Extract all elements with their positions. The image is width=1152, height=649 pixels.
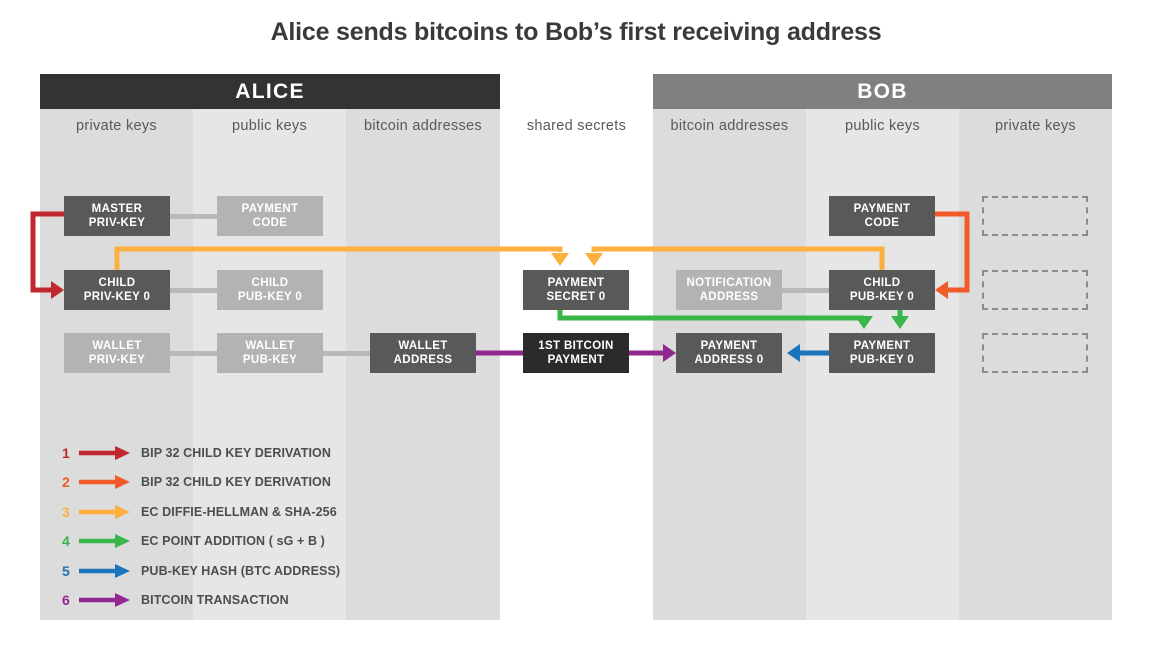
node-child-priv-key-0: CHILDPRIV-KEY 0 <box>64 270 170 310</box>
legend-label: PUB-KEY HASH (BTC ADDRESS) <box>141 564 340 578</box>
node-child-pub-key-0-alice: CHILDPUB-KEY 0 <box>217 270 323 310</box>
legend-arrow-icon <box>77 473 131 491</box>
node-label-line2: PUB-KEY 0 <box>850 353 914 367</box>
legend-label: BITCOIN TRANSACTION <box>141 593 289 607</box>
node-label-line1: CHILD <box>252 276 289 290</box>
node-label-line2: PAYMENT <box>548 353 605 367</box>
legend-item-4: 4EC POINT ADDITION ( sG + B ) <box>62 527 340 557</box>
node-label-line1: PAYMENT <box>854 202 911 216</box>
legend-label: EC POINT ADDITION ( sG + B ) <box>141 534 325 548</box>
legend: 1BIP 32 CHILD KEY DERIVATION2BIP 32 CHIL… <box>62 438 340 615</box>
legend-number: 6 <box>62 592 77 608</box>
column-caption-alice-public-keys: public keys <box>193 118 346 140</box>
diagram-canvas: Alice sends bitcoins to Bob’s first rece… <box>0 0 1152 649</box>
legend-arrow-icon <box>77 591 131 609</box>
node-wallet-priv-key: WALLETPRIV-KEY <box>64 333 170 373</box>
link-master-to-alice-payment-code <box>168 214 219 219</box>
node-label-line2: PUB-KEY <box>243 353 297 367</box>
party-header-label: BOB <box>857 80 908 104</box>
node-label-line2: PUB-KEY 0 <box>238 290 302 304</box>
legend-item-2: 2BIP 32 CHILD KEY DERIVATION <box>62 468 340 498</box>
legend-number: 3 <box>62 504 77 520</box>
node-label-line1: PAYMENT <box>701 339 758 353</box>
node-payment-secret-0: PAYMENTSECRET 0 <box>523 270 629 310</box>
node-label-line2: CODE <box>865 216 900 230</box>
link-wallet-priv-to-wallet-pub <box>168 351 219 356</box>
legend-item-6: 6BITCOIN TRANSACTION <box>62 586 340 616</box>
legend-arrow-icon <box>77 444 131 462</box>
party-header-alice: ALICE <box>40 74 500 109</box>
node-label-line2: ADDRESS 0 <box>695 353 764 367</box>
party-header-bob: BOB <box>653 74 1112 109</box>
node-label-line1: PAYMENT <box>548 276 605 290</box>
column-caption-bob-bitcoin-addresses: bitcoin addresses <box>653 118 806 140</box>
node-wallet-pub-key: WALLETPUB-KEY <box>217 333 323 373</box>
node-label-line1: WALLET <box>92 339 141 353</box>
legend-item-1: 1BIP 32 CHILD KEY DERIVATION <box>62 438 340 468</box>
legend-arrow-icon <box>77 532 131 550</box>
node-wallet-address: WALLETADDRESS <box>370 333 476 373</box>
legend-number: 5 <box>62 563 77 579</box>
legend-number: 2 <box>62 474 77 490</box>
party-header-label: ALICE <box>235 80 305 104</box>
node-label-line1: CHILD <box>99 276 136 290</box>
node-label-line2: SECRET 0 <box>546 290 605 304</box>
legend-number: 4 <box>62 533 77 549</box>
node-payment-address-0: PAYMENTADDRESS 0 <box>676 333 782 373</box>
node-label-line1: CHILD <box>864 276 901 290</box>
node-label-line2: PRIV-KEY <box>89 353 145 367</box>
node-label-line2: PRIV-KEY 0 <box>84 290 151 304</box>
node-label-line1: PAYMENT <box>854 339 911 353</box>
node-master-priv-key: MASTERPRIV-KEY <box>64 196 170 236</box>
node-label-line2: ADDRESS <box>700 290 759 304</box>
node-label-line2: PRIV-KEY <box>89 216 145 230</box>
column-caption-shared-secrets: shared secrets <box>500 118 653 140</box>
link-notification-to-child-pub-bob <box>780 288 831 293</box>
flow-3a-arrowhead <box>551 253 569 266</box>
node-notification-address: NOTIFICATIONADDRESS <box>676 270 782 310</box>
flow-3b-arrowhead <box>585 253 603 266</box>
node-payment-pub-key-0: PAYMENTPUB-KEY 0 <box>829 333 935 373</box>
node-label-line1: PAYMENT <box>242 202 299 216</box>
node-label-line2: PUB-KEY 0 <box>850 290 914 304</box>
bob-priv-placeholder-3 <box>982 333 1088 373</box>
node-child-pub-key-0-bob: CHILDPUB-KEY 0 <box>829 270 935 310</box>
column-caption-alice-private-keys: private keys <box>40 118 193 140</box>
column-caption-bob-public-keys: public keys <box>806 118 959 140</box>
node-first-bitcoin-payment: 1ST BITCOINPAYMENT <box>523 333 629 373</box>
legend-label: EC DIFFIE-HELLMAN & SHA-256 <box>141 505 337 519</box>
page-title: Alice sends bitcoins to Bob’s first rece… <box>0 18 1152 47</box>
legend-label: BIP 32 CHILD KEY DERIVATION <box>141 475 331 489</box>
node-label-line1: 1ST BITCOIN <box>538 339 613 353</box>
legend-item-5: 5PUB-KEY HASH (BTC ADDRESS) <box>62 556 340 586</box>
legend-label: BIP 32 CHILD KEY DERIVATION <box>141 446 331 460</box>
legend-arrow-icon <box>77 562 131 580</box>
node-label-line1: NOTIFICATION <box>686 276 771 290</box>
legend-number: 1 <box>62 445 77 461</box>
link-wallet-pub-to-wallet-address <box>321 351 372 356</box>
column-caption-bob-private-keys: private keys <box>959 118 1112 140</box>
column-caption-alice-bitcoin-addresses: bitcoin addresses <box>346 118 500 140</box>
link-child-priv-to-child-pub <box>168 288 219 293</box>
node-label-line1: WALLET <box>245 339 294 353</box>
node-bob-payment-code: PAYMENTCODE <box>829 196 935 236</box>
bob-priv-placeholder-1 <box>982 196 1088 236</box>
bob-priv-placeholder-2 <box>982 270 1088 310</box>
node-label-line2: CODE <box>253 216 288 230</box>
node-label-line1: WALLET <box>398 339 447 353</box>
legend-arrow-icon <box>77 503 131 521</box>
node-label-line2: ADDRESS <box>394 353 453 367</box>
legend-item-3: 3EC DIFFIE-HELLMAN & SHA-256 <box>62 497 340 527</box>
node-alice-payment-code: PAYMENTCODE <box>217 196 323 236</box>
node-label-line1: MASTER <box>92 202 143 216</box>
